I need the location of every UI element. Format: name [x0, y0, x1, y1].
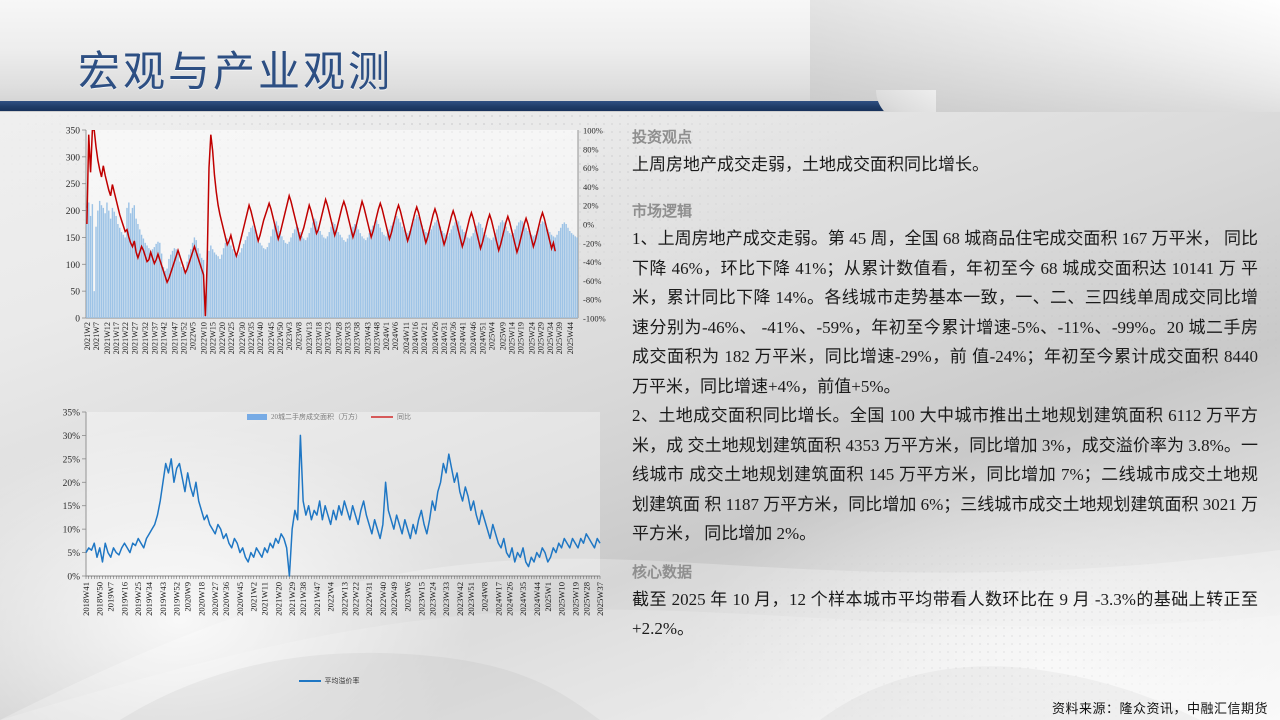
svg-text:2024W44: 2024W44 [532, 581, 542, 616]
svg-text:2021W38: 2021W38 [298, 582, 308, 616]
svg-text:2025W29: 2025W29 [537, 322, 546, 354]
svg-text:2019W7: 2019W7 [106, 581, 116, 611]
svg-text:2023W23: 2023W23 [323, 322, 332, 354]
svg-text:0%: 0% [67, 573, 80, 583]
svg-text:2025W39: 2025W39 [555, 322, 564, 354]
svg-text:2025W19: 2025W19 [570, 582, 580, 616]
svg-text:2023W13: 2023W13 [305, 322, 314, 354]
svg-text:2025W28: 2025W28 [581, 582, 591, 616]
svg-text:2019W34: 2019W34 [144, 581, 154, 616]
svg-text:300: 300 [66, 153, 81, 163]
svg-text:2021W32: 2021W32 [141, 322, 150, 354]
svg-text:60%: 60% [583, 163, 599, 173]
svg-text:2025W14: 2025W14 [508, 322, 517, 354]
svg-text:2022W30: 2022W30 [238, 322, 247, 354]
market-logic-heading: 市场逻辑 [632, 200, 1258, 224]
svg-text:2021W37: 2021W37 [150, 322, 159, 354]
svg-text:2025W34: 2025W34 [546, 322, 555, 354]
svg-text:0%: 0% [583, 220, 594, 230]
svg-text:-20%: -20% [583, 238, 601, 248]
svg-text:2023W42: 2023W42 [455, 582, 465, 616]
svg-text:-60%: -60% [583, 276, 601, 286]
svg-text:2021W47: 2021W47 [170, 322, 179, 354]
svg-text:2022W20: 2022W20 [218, 322, 227, 354]
svg-text:2024W6: 2024W6 [391, 322, 400, 350]
svg-text:2024W41: 2024W41 [458, 322, 467, 354]
svg-text:150: 150 [66, 234, 81, 244]
svg-text:250: 250 [66, 180, 81, 190]
svg-text:2022W40: 2022W40 [378, 582, 388, 616]
svg-text:2022W35: 2022W35 [247, 322, 256, 354]
svg-text:-40%: -40% [583, 257, 601, 267]
svg-text:2020W27: 2020W27 [210, 581, 220, 616]
svg-text:80%: 80% [583, 144, 599, 154]
svg-text:0: 0 [75, 315, 80, 325]
svg-text:2021W2: 2021W2 [83, 322, 92, 350]
svg-text:2024W8: 2024W8 [480, 582, 490, 612]
svg-text:50: 50 [71, 288, 81, 298]
svg-text:2021W12: 2021W12 [103, 322, 112, 354]
svg-text:2024W26: 2024W26 [504, 581, 514, 616]
svg-text:2021W7: 2021W7 [92, 322, 101, 350]
svg-text:2019W25: 2019W25 [133, 582, 143, 616]
svg-text:2022W13: 2022W13 [339, 582, 349, 616]
svg-text:25%: 25% [63, 455, 81, 465]
svg-text:2025W37: 2025W37 [595, 581, 605, 616]
svg-text:2023W6: 2023W6 [403, 581, 413, 611]
svg-text:2020W9: 2020W9 [183, 582, 193, 612]
svg-text:2022W40: 2022W40 [256, 322, 265, 354]
svg-text:35%: 35% [63, 409, 81, 419]
svg-text:-80%: -80% [583, 295, 601, 305]
svg-text:2023W38: 2023W38 [353, 322, 362, 354]
svg-text:2023W33: 2023W33 [441, 582, 451, 616]
legend-swatch-premium-line [299, 680, 321, 683]
svg-text:2021W52: 2021W52 [180, 322, 189, 354]
svg-text:2023W28: 2023W28 [334, 322, 343, 354]
header-accent-bar [0, 101, 910, 111]
svg-text:5%: 5% [67, 549, 80, 559]
svg-text:2024W35: 2024W35 [518, 582, 528, 616]
svg-text:2025W4: 2025W4 [487, 322, 496, 350]
svg-text:350: 350 [66, 127, 81, 137]
svg-text:2020W18: 2020W18 [196, 582, 206, 616]
svg-text:2025W9: 2025W9 [498, 322, 507, 350]
svg-text:2022W45: 2022W45 [267, 322, 276, 354]
legend-item-premium: 平均溢价率 [299, 676, 360, 686]
svg-text:2018W41: 2018W41 [81, 582, 91, 616]
svg-text:2024W16: 2024W16 [411, 322, 420, 354]
svg-text:2022W5: 2022W5 [189, 322, 198, 350]
svg-text:2025W1: 2025W1 [543, 582, 553, 612]
secondhand-housing-chart-svg: 050100150200250300350-100%-80%-60%-40%-2… [44, 122, 614, 410]
investment-view-text: 上周房地产成交走弱，土地成交面积同比增长。 [632, 151, 1258, 178]
svg-text:2021W17: 2021W17 [112, 322, 121, 354]
svg-text:2022W31: 2022W31 [364, 582, 374, 616]
svg-text:2022W22: 2022W22 [350, 582, 360, 616]
svg-text:2023W48: 2023W48 [373, 322, 382, 354]
svg-text:2019W52: 2019W52 [172, 582, 182, 616]
svg-text:20%: 20% [63, 479, 81, 489]
svg-text:-100%: -100% [583, 314, 606, 324]
svg-text:2022W50: 2022W50 [276, 322, 285, 354]
svg-text:2024W11: 2024W11 [402, 322, 411, 354]
svg-text:2023W24: 2023W24 [427, 581, 437, 616]
svg-text:100: 100 [66, 261, 81, 271]
svg-text:2021W2: 2021W2 [249, 582, 259, 612]
svg-text:2024W26: 2024W26 [431, 322, 440, 354]
svg-text:2020W36: 2020W36 [221, 581, 231, 616]
svg-text:2021W22: 2021W22 [121, 322, 130, 354]
svg-text:2024W31: 2024W31 [440, 322, 449, 354]
svg-text:2022W10: 2022W10 [200, 322, 209, 354]
svg-text:30%: 30% [63, 432, 81, 442]
svg-text:10%: 10% [63, 526, 81, 536]
svg-text:2024W21: 2024W21 [420, 322, 429, 354]
legend-label-premium: 平均溢价率 [325, 676, 360, 686]
svg-text:15%: 15% [63, 502, 81, 512]
svg-text:2021W27: 2021W27 [130, 322, 139, 354]
svg-text:2023W8: 2023W8 [294, 322, 303, 350]
svg-text:2021W20: 2021W20 [273, 582, 283, 616]
land-premium-rate-chart-legend: 平均溢价率 [44, 676, 614, 686]
svg-text:2023W18: 2023W18 [314, 322, 323, 354]
core-data-heading: 核心数据 [632, 561, 1258, 585]
svg-text:2025W24: 2025W24 [528, 322, 537, 354]
svg-text:2023W3: 2023W3 [285, 322, 294, 350]
svg-text:2025W19: 2025W19 [517, 322, 526, 354]
svg-text:2024W46: 2024W46 [469, 322, 478, 354]
svg-text:2018W50: 2018W50 [95, 582, 105, 616]
svg-text:2022W15: 2022W15 [209, 322, 218, 354]
svg-text:2024W51: 2024W51 [478, 322, 487, 354]
svg-text:40%: 40% [583, 182, 599, 192]
svg-text:2021W29: 2021W29 [287, 582, 297, 616]
core-data-text: 截至 2025 年 10 月，12 个样本城市平均带看人数环比在 9 月 -3.… [632, 585, 1258, 644]
land-premium-rate-chart: 0%5%10%15%20%25%30%35%2018W412018W502019… [44, 402, 614, 692]
spacer-2 [632, 549, 1258, 561]
svg-text:200: 200 [66, 207, 81, 217]
svg-text:2022W4: 2022W4 [326, 581, 336, 611]
svg-text:2025W10: 2025W10 [557, 582, 567, 616]
market-logic-paragraph-1: 1、上周房地产成交走弱。第 45 周，全国 68 城商品住宅成交面积 167 万… [632, 224, 1258, 401]
svg-text:2023W51: 2023W51 [466, 582, 476, 616]
svg-text:2021W47: 2021W47 [312, 581, 322, 616]
svg-text:2020W45: 2020W45 [235, 582, 245, 616]
svg-text:2024W17: 2024W17 [493, 581, 503, 616]
header-accent-bar-cap [876, 90, 936, 112]
svg-text:20%: 20% [583, 201, 599, 211]
svg-text:2021W11: 2021W11 [260, 582, 270, 616]
svg-text:2022W25: 2022W25 [227, 322, 236, 354]
svg-text:2019W43: 2019W43 [158, 582, 168, 616]
spacer-1 [632, 178, 1258, 200]
svg-text:2022W49: 2022W49 [389, 582, 399, 616]
investment-view-heading: 投资观点 [632, 126, 1258, 150]
svg-text:2023W15: 2023W15 [416, 582, 426, 616]
market-logic-paragraph-2: 2、土地成交面积同比增长。全国 100 大中城市推出土地规划建筑面积 6112 … [632, 401, 1258, 549]
svg-text:2023W33: 2023W33 [344, 322, 353, 354]
svg-text:2021W42: 2021W42 [159, 322, 168, 354]
source-note: 资料来源：隆众资讯，中融汇信期货 [1052, 698, 1268, 717]
svg-text:2023W43: 2023W43 [364, 322, 373, 354]
svg-text:2024W1: 2024W1 [382, 322, 391, 350]
svg-text:2019W16: 2019W16 [120, 581, 130, 616]
svg-text:2024W36: 2024W36 [449, 322, 458, 354]
commentary-panel: 投资观点 上周房地产成交走弱，土地成交面积同比增长。 市场逻辑 1、上周房地产成… [632, 126, 1258, 686]
slide-header: 宏观与产业观测 [0, 0, 1280, 112]
page-title: 宏观与产业观测 [78, 38, 393, 99]
svg-text:100%: 100% [583, 126, 603, 136]
secondhand-housing-chart: 050100150200250300350-100%-80%-60%-40%-2… [44, 122, 614, 410]
svg-text:2025W44: 2025W44 [566, 322, 575, 354]
land-premium-rate-chart-svg: 0%5%10%15%20%25%30%35%2018W412018W502019… [44, 402, 614, 674]
